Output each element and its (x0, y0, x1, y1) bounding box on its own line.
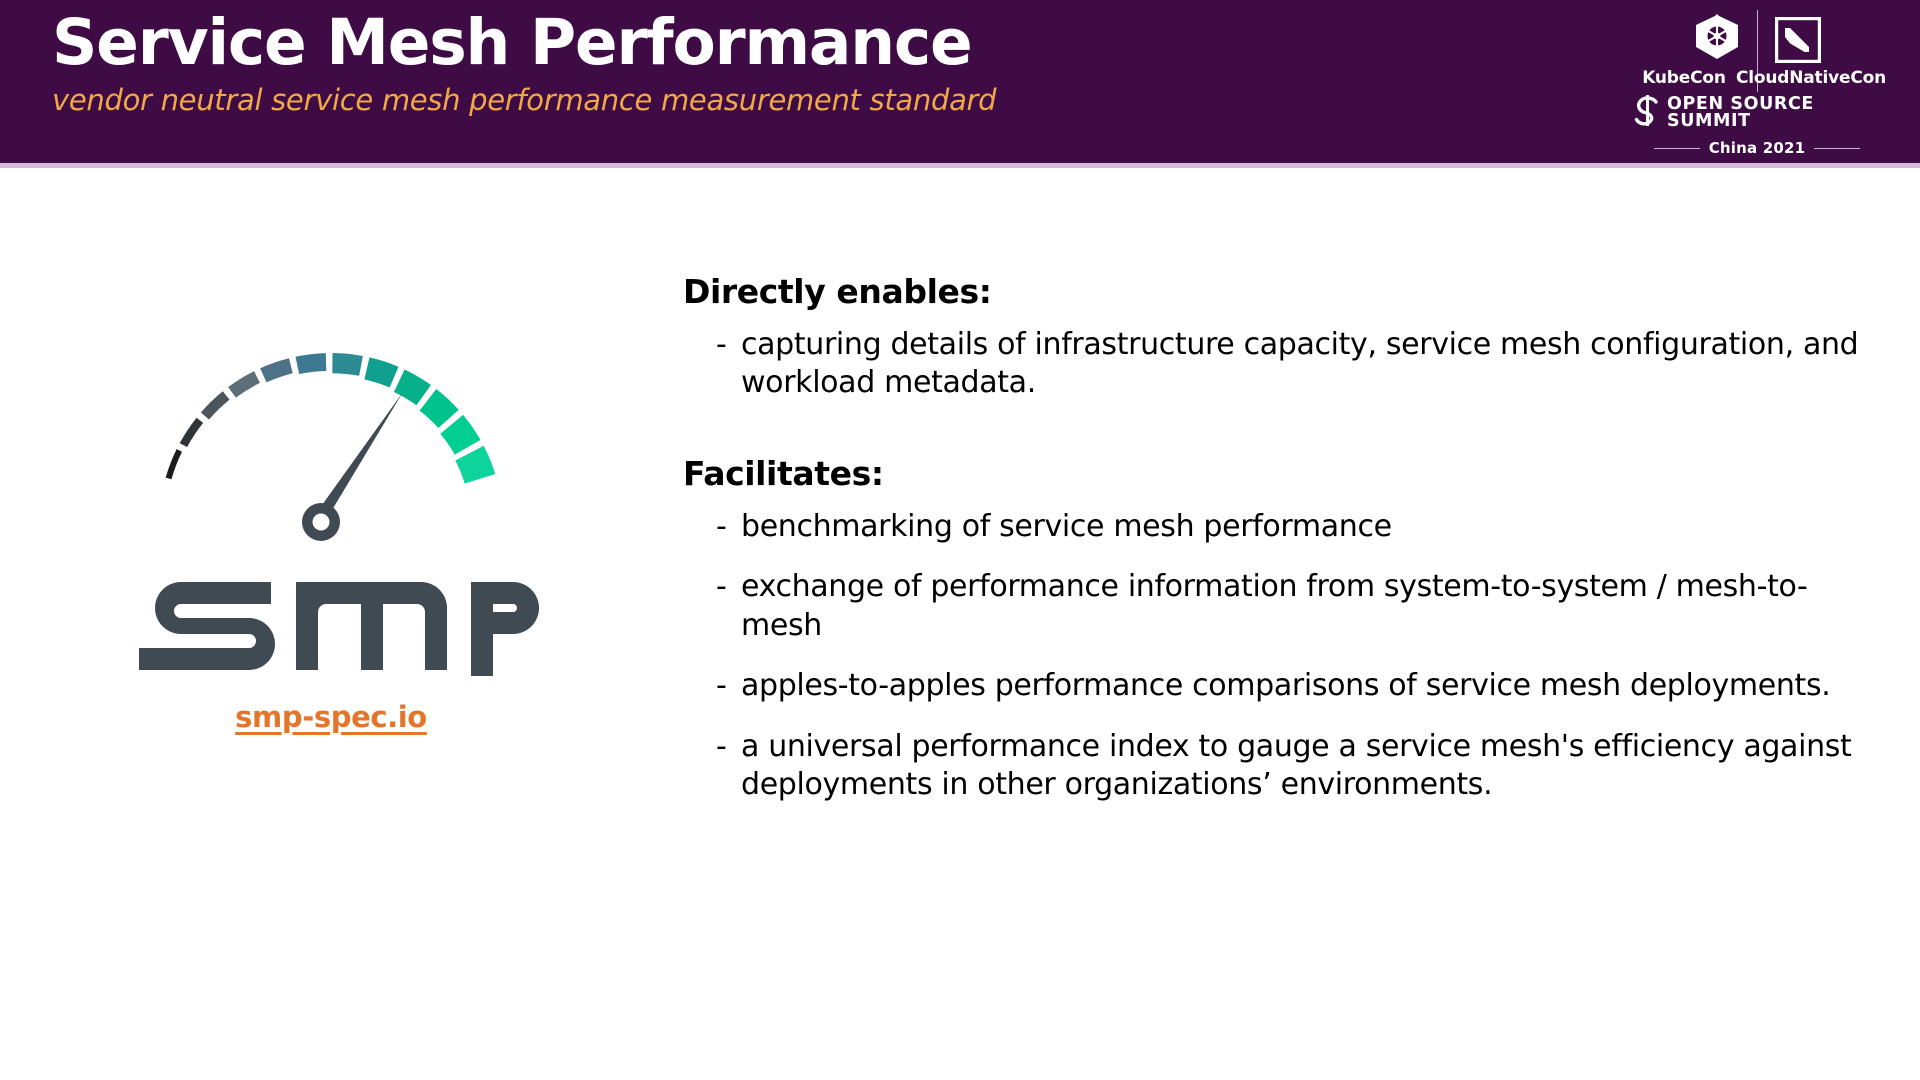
list-item: - apples-to-apples performance compariso… (683, 667, 1873, 705)
gauge-segment (295, 353, 326, 374)
section-facilitates: Facilitates: - benchmarking of service m… (683, 454, 1873, 804)
title-block: Service Mesh Performance vendor neutral … (52, 2, 1402, 117)
year-rule-right (1814, 148, 1860, 149)
bullet-text: benchmarking of service mesh performance (741, 508, 1873, 546)
bullet-text: exchange of performance information from… (741, 568, 1873, 645)
bullet-marker: - (683, 508, 741, 546)
page-title: Service Mesh Performance (52, 2, 1402, 79)
gauge-segment (332, 353, 363, 376)
gauge-segment (420, 389, 459, 428)
cloudnativecon-label: CloudNativeCon (1736, 70, 1882, 87)
year-label: China 2021 (1709, 141, 1806, 156)
kubecon-label: KubeCon (1632, 70, 1736, 87)
header-underline (0, 163, 1920, 168)
conference-logo: KubeCon CloudNativeCon OPEN SOURCE SUMMI… (1632, 6, 1882, 158)
cloudnativecon-icon (1772, 12, 1824, 68)
gauge-segment (201, 391, 230, 419)
gauge-segment (260, 358, 293, 382)
smp-gauge (121, 300, 541, 550)
gauge-segment (228, 371, 260, 398)
gauge-segment (394, 370, 431, 406)
bullet-marker: - (683, 667, 741, 705)
list-item: - exchange of performance information fr… (683, 568, 1873, 645)
list-item: - benchmarking of service mesh performan… (683, 508, 1873, 546)
section-heading: Facilitates: (683, 454, 1873, 494)
section-heading: Directly enables: (683, 272, 1873, 312)
bullet-marker: - (683, 326, 741, 364)
bullet-list: - capturing details of infrastructure ca… (683, 326, 1873, 403)
smp-logo-panel: smp-spec.io (96, 300, 566, 734)
gauge-segment (455, 446, 495, 484)
list-item: - capturing details of infrastructure ca… (683, 326, 1873, 403)
summit-label: OPEN SOURCE SUMMIT (1667, 96, 1882, 131)
conference-names: KubeCon CloudNativeCon (1632, 70, 1882, 87)
smp-wordmark (121, 568, 541, 678)
list-item: - a universal performance index to gauge… (683, 728, 1873, 805)
bullet-marker: - (683, 568, 741, 606)
page-subtitle: vendor neutral service mesh performance … (52, 79, 1402, 117)
kubernetes-helm-icon (1691, 12, 1743, 68)
smp-spec-link[interactable]: smp-spec.io (235, 700, 427, 734)
conference-year-row: China 2021 (1632, 141, 1882, 156)
section-gap (683, 424, 1873, 454)
open-source-summit-row: OPEN SOURCE SUMMIT (1632, 94, 1882, 132)
summit-s-icon (1632, 94, 1663, 132)
gauge-segment (364, 357, 398, 387)
gauge-segment (166, 449, 182, 479)
section-directly-enables: Directly enables: - capturing details of… (683, 272, 1873, 402)
gauge-segment (180, 418, 203, 447)
conference-logo-marks (1632, 6, 1882, 68)
gauge-segments (166, 353, 496, 484)
bullet-text: apples-to-apples performance comparisons… (741, 667, 1873, 705)
bullet-list: - benchmarking of service mesh performan… (683, 508, 1873, 804)
bullet-text: capturing details of infrastructure capa… (741, 326, 1873, 403)
bullet-marker: - (683, 728, 741, 766)
gauge-needle (302, 392, 403, 541)
content-column: Directly enables: - capturing details of… (683, 272, 1873, 826)
bullet-text: a universal performance index to gauge a… (741, 728, 1873, 805)
year-rule-left (1654, 148, 1700, 149)
